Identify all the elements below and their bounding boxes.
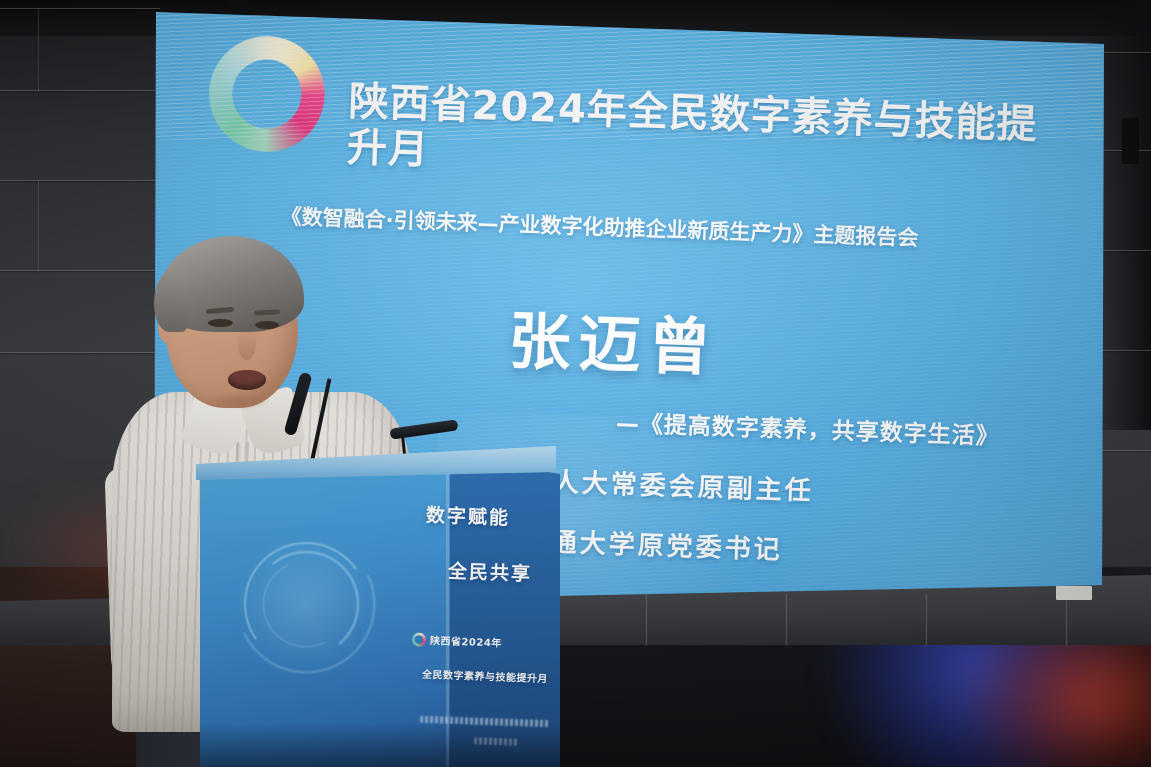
speaker-eye-right — [255, 321, 279, 329]
speaker-mouth — [228, 370, 266, 390]
wall-panel-seam — [0, 180, 160, 181]
wall-panel-seam — [0, 90, 160, 91]
podium-swirl-ring-icon — [244, 542, 368, 666]
podium-bottom-shadow — [200, 722, 560, 767]
skirt-seam — [926, 594, 927, 646]
podium: 数字赋能 全民共享 陕西省2024年 全民数字素养与技能提升月 — [200, 446, 568, 767]
stage-label-plate — [1056, 586, 1092, 600]
conference-stage-photo: 陕西省2024年全民数字素养与技能提升月 《数智融合·引领未来—产业数字化助推企… — [0, 0, 1151, 767]
speaker-eye-left — [208, 319, 233, 327]
screen-main-title: 陕西省2024年全民数字素养与技能提升月 — [346, 79, 1069, 195]
podium-slogan-line-1: 数字赋能 — [426, 501, 511, 531]
speaker-nose — [238, 330, 256, 360]
event-ring-logo-icon — [207, 34, 327, 154]
skirt-seam — [1066, 594, 1067, 646]
podium-slogan-line-2: 全民共享 — [448, 557, 533, 587]
podium-logo-text: 陕西省2024年 — [430, 632, 502, 649]
speaker-chin-shadow — [206, 392, 272, 410]
podium-ring-logo-icon — [412, 632, 426, 646]
screen-speaker-name: 张迈曾 — [507, 290, 720, 387]
wall-panel-seam — [38, 8, 39, 92]
wall-panel-seam — [0, 8, 160, 9]
wall-vent — [1122, 118, 1139, 164]
skirt-seam — [786, 594, 787, 646]
speaker-hair-side — [154, 270, 188, 332]
wall-panel-seam — [38, 180, 39, 272]
skirt-seam — [646, 594, 647, 646]
